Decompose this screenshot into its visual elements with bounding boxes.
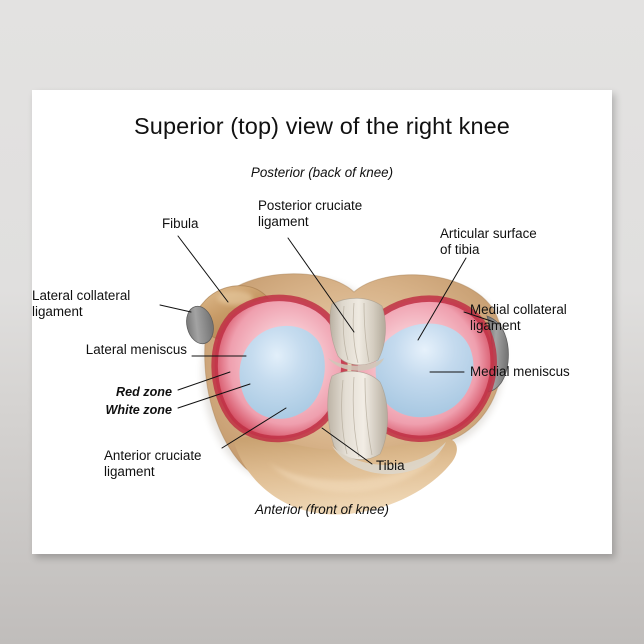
anatomy-poster: Superior (top) view of the right knee Po… [32,90,612,554]
label-articular-surface-of-tibia: Articular surface of tibia [440,226,537,259]
orientation-anterior: Anterior (front of knee) [32,502,612,518]
label-fibula: Fibula [162,216,198,232]
label-lateral-meniscus: Lateral meniscus [32,342,187,358]
label-medial-meniscus: Medial meniscus [470,364,570,380]
label-lateral-collateral-ligament: Lateral collateral ligament [32,288,162,321]
label-medial-collateral-ligament: Medial collateral ligament [470,302,567,335]
posterior-cruciate-ligament [330,298,385,365]
label-white-zone: White zone [32,403,172,418]
leader-fibula [178,236,228,302]
label-posterior-cruciate-ligament: Posterior cruciate ligament [258,198,362,231]
leader-lcl [160,305,191,312]
anterior-cruciate-ligament [328,371,388,459]
label-anterior-cruciate-ligament: Anterior cruciate ligament [104,448,202,481]
page-title: Superior (top) view of the right knee [32,112,612,141]
screenshot-stage: Superior (top) view of the right knee Po… [0,0,644,644]
orientation-posterior: Posterior (back of knee) [32,165,612,181]
label-red-zone: Red zone [32,385,172,400]
label-tibia: Tibia [376,458,405,474]
